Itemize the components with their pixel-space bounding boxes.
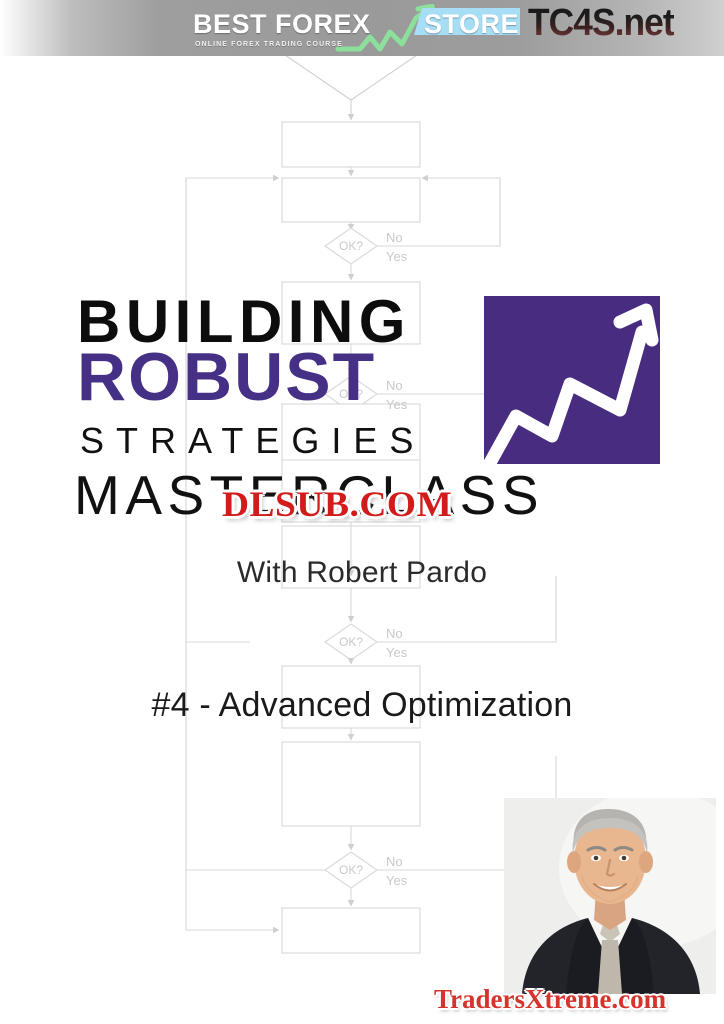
branch-no-label: No [386,854,403,869]
avatar [504,798,716,994]
decision-label: OK? [339,387,363,401]
brand-tagline: ONLINE FOREX TRADING COURSE [195,41,343,48]
decision-label: OK? [339,863,363,877]
decision-label: OK? [339,635,363,649]
header-banner: BEST FOREX STORE ONLINE FOREX TRADING CO… [0,0,724,56]
branch-no-label: No [386,626,403,641]
slide-root: OK? No Yes OK? No Yes OK? No Yes OK? No … [0,0,724,1024]
brand-best-forex: BEST FOREX [193,9,371,40]
site-domain-tc4s: TC4S.net [528,2,674,45]
branch-no-label: No [386,378,403,393]
decision-label: OK? [339,239,363,253]
branch-yes-label: Yes [386,397,408,412]
branch-no-label: No [386,230,403,245]
watermark-tradersxtreme: TradersXtreme.com [434,984,666,1015]
brand-store: STORE [424,9,519,40]
robert-pardo-portrait [504,798,716,994]
branch-yes-label: Yes [386,645,408,660]
branch-yes-label: Yes [386,249,408,264]
branch-yes-label: Yes [386,873,408,888]
